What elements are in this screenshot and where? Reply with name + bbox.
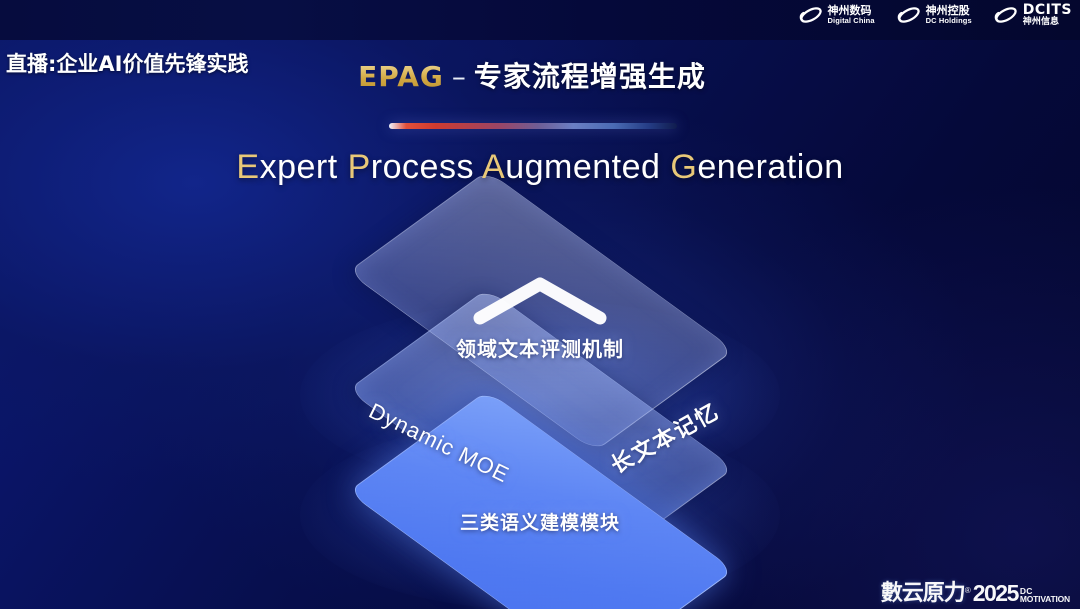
swirl-icon — [994, 4, 1018, 26]
partner-label: 神州数码 Digital China — [828, 5, 875, 24]
layer-label-bottom: 三类语义建模模块 — [0, 508, 1080, 535]
cap-e: E — [236, 148, 259, 186]
partner-logo-group: 神州数码 Digital China 神州控股 DC Holdings — [799, 3, 1073, 27]
word-generation: Generation — [670, 148, 843, 186]
rest-expert: xpert — [260, 148, 338, 186]
cap-p: P — [348, 148, 371, 186]
rest-augmented: ugmented — [505, 148, 660, 186]
partner-label: 神州控股 DC Holdings — [926, 5, 972, 24]
slide-canvas: 數云原力 ® 2025 DC MOTIVATION 直播:企业AI价值先锋实践 … — [0, 0, 1080, 609]
title-chinese: 专家流程增强生成 — [474, 60, 706, 93]
word-augmented: Augmented — [482, 148, 660, 186]
partner-name-en: DCITS — [1023, 3, 1072, 18]
partner-label: DCITS 神州信息 — [1023, 3, 1072, 27]
cap-g: G — [670, 148, 697, 186]
watermark-dc-line2: MOTIVATION — [1020, 595, 1070, 604]
partner-logo-dcits: DCITS 神州信息 — [994, 3, 1072, 27]
partner-logo-digital-china: 神州数码 Digital China — [799, 4, 875, 26]
rest-generation: eneration — [697, 148, 843, 186]
partner-name-en: Digital China — [828, 17, 875, 25]
partner-logo-dc-holdings: 神州控股 DC Holdings — [897, 4, 972, 26]
watermark-year: 2025 — [973, 582, 1018, 605]
watermark-dc-motivation: DC MOTIVATION — [1020, 587, 1070, 604]
layer-label-top: 领域文本评测机制 — [0, 333, 1080, 362]
title-dash: – — [452, 60, 466, 93]
swirl-icon — [897, 4, 921, 26]
watermark-brand-cn: 數云原力 — [881, 583, 965, 605]
rest-process: rocess — [371, 148, 474, 186]
chevron-up-icon — [470, 272, 610, 333]
watermark-registered-mark: ® — [965, 587, 971, 595]
cap-a: A — [482, 148, 505, 186]
word-process: Process — [348, 148, 474, 186]
title-abbreviation: EPAG — [358, 60, 444, 93]
gradient-divider — [389, 123, 677, 129]
swirl-icon — [799, 4, 823, 26]
footer-watermark-logo: 數云原力 ® 2025 DC MOTIVATION — [881, 582, 1070, 605]
word-expert: Expert — [236, 148, 337, 186]
partner-name-en: DC Holdings — [926, 17, 972, 25]
partner-name-cn: 神州信息 — [1023, 18, 1072, 27]
broadcast-subtitle: 直播:企业AI价值先锋实践 — [6, 48, 248, 78]
subtitle-expansion: Expert Process Augmented Generation — [0, 148, 1080, 187]
